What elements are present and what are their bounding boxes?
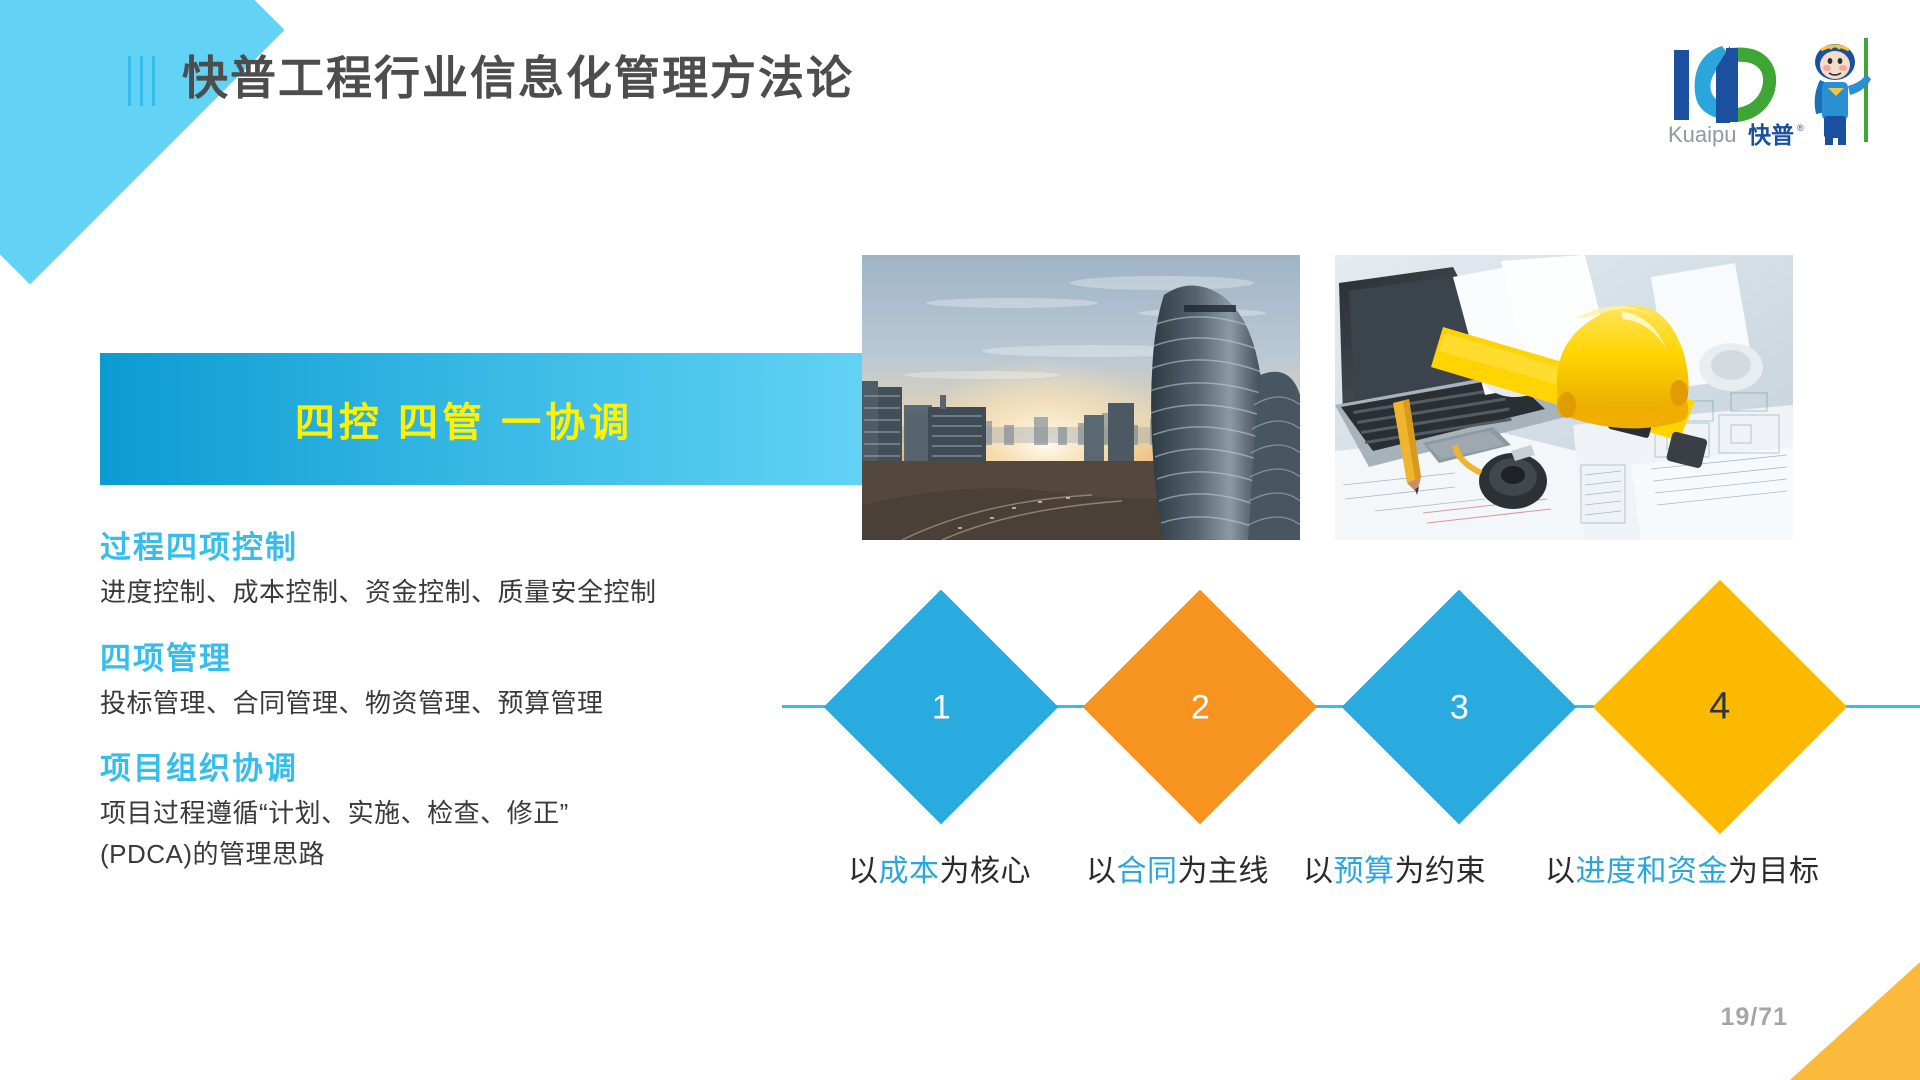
slide-root: 快普工程行业信息化管理方法论 Kuaipu 快普 ® [0,0,1920,1080]
city-skyline-photo [862,255,1300,540]
svg-text:Kuaipu: Kuaipu [1668,122,1737,147]
timeline-step-3[interactable]: 3 [1342,590,1577,825]
timeline-step-2[interactable]: 2 [1083,590,1318,825]
caption-prefix: 以 [1086,855,1117,888]
caption-prefix: 以 [1545,855,1576,888]
timeline-step-1[interactable]: 1 [824,590,1059,825]
kp-monogram-icon: Kuaipu 快普 ® [1652,28,1886,148]
block-body-line: 项目过程遵循“计划、实施、检查、修正” [100,793,800,833]
caption-highlight: 预算 [1334,855,1395,888]
text-block: 过程四项控制 进度控制、成本控制、资金控制、质量安全控制 [100,528,800,613]
block-body-line: 投标管理、合同管理、物资管理、预算管理 [100,683,800,723]
construction-desk-photo [1335,255,1793,540]
svg-text:®: ® [1797,123,1804,133]
caption-highlight: 成本 [879,855,940,888]
caption-suffix: 为核心 [940,855,1032,888]
caption-highlight: 进度和资金 [1576,855,1729,888]
process-timeline: 1 2 3 4 以成本为核心 以合同为主线 以预算为约束 以进度和资金为目标 [780,600,1920,930]
block-body: 项目过程遵循“计划、实施、检查、修正” (PDCA)的管理思路 [100,793,800,874]
timeline-caption-2: 以合同为主线 [1086,846,1269,890]
timeline-step-number: 2 [1191,690,1210,724]
triple-bar-icon [128,56,155,106]
caption-prefix: 以 [848,855,879,888]
text-block: 四项管理 投标管理、合同管理、物资管理、预算管理 [100,639,800,724]
timeline-step-number: 3 [1450,690,1469,724]
caption-suffix: 为主线 [1178,855,1270,888]
block-body-line: (PDCA)的管理思路 [100,834,800,874]
block-body: 投标管理、合同管理、物资管理、预算管理 [100,683,800,723]
caption-suffix: 为约束 [1395,855,1487,888]
caption-prefix: 以 [1303,855,1334,888]
timeline-caption-3: 以预算为约束 [1303,846,1486,890]
block-heading: 过程四项控制 [100,528,800,568]
page-number: 19/71 [1720,1003,1788,1032]
block-heading: 项目组织协调 [100,749,800,789]
timeline-step-number: 4 [1709,688,1730,726]
slide-header: 快普工程行业信息化管理方法论 Kuaipu 快普 ® [0,0,1920,170]
caption-highlight: 合同 [1117,855,1178,888]
highlight-banner: 四控 四管 一协调 [100,353,862,485]
monkey-mascot-icon [1815,38,1871,145]
svg-text:快普: 快普 [1748,122,1794,148]
bottom-right-triangle-decor [1790,962,1920,1080]
block-heading: 四项管理 [100,639,800,679]
banner-text: 四控 四管 一协调 [100,353,862,485]
timeline-step-number: 1 [932,690,951,724]
kuaipu-logo: Kuaipu 快普 ® [1652,28,1886,148]
caption-suffix: 为目标 [1728,855,1820,888]
text-block: 项目组织协调 项目过程遵循“计划、实施、检查、修正” (PDCA)的管理思路 [100,749,800,874]
left-text-column: 过程四项控制 进度控制、成本控制、资金控制、质量安全控制 四项管理 投标管理、合… [100,528,800,874]
timeline-caption-4: 以进度和资金为目标 [1545,846,1820,890]
timeline-step-4[interactable]: 4 [1593,580,1848,835]
page-title: 快普工程行业信息化管理方法论 [182,42,854,108]
block-body-line: 进度控制、成本控制、资金控制、质量安全控制 [100,572,800,612]
block-body: 进度控制、成本控制、资金控制、质量安全控制 [100,572,800,612]
timeline-caption-1: 以成本为核心 [848,846,1031,890]
